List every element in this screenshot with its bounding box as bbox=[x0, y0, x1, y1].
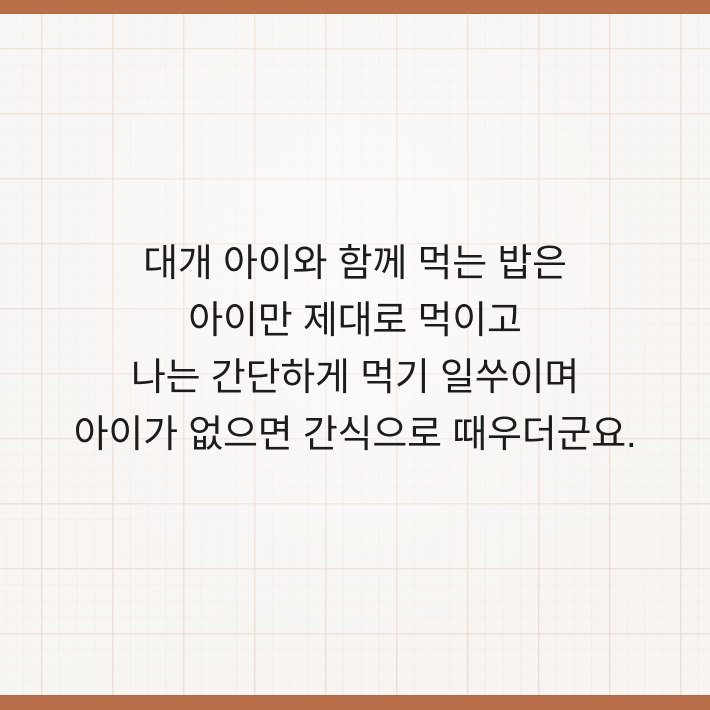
bottom-accent-bar bbox=[0, 695, 710, 710]
quote-line-1: 대개 아이와 함께 먹는 밥은 bbox=[0, 236, 710, 293]
quote-line-4: 아이가 없으면 간식으로 때우더군요. bbox=[0, 407, 710, 464]
quote-text-block: 대개 아이와 함께 먹는 밥은 아이만 제대로 먹이고 나는 간단하게 먹기 일… bbox=[0, 236, 710, 464]
quote-line-3: 나는 간단하게 먹기 일쑤이며 bbox=[0, 350, 710, 407]
top-accent-bar bbox=[0, 0, 710, 14]
quote-line-2: 아이만 제대로 먹이고 bbox=[0, 293, 710, 350]
quote-card: 대개 아이와 함께 먹는 밥은 아이만 제대로 먹이고 나는 간단하게 먹기 일… bbox=[0, 0, 710, 710]
